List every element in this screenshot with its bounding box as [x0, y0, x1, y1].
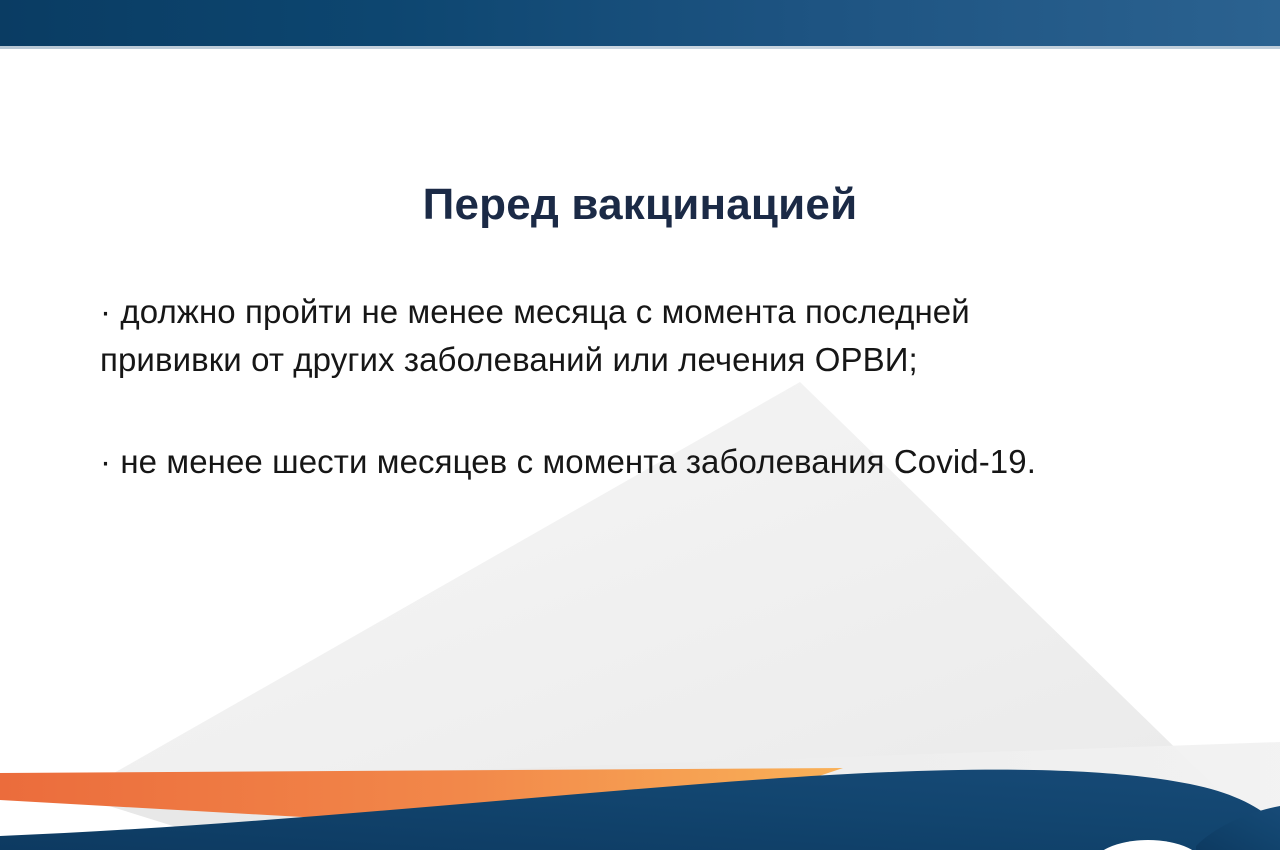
presentation-slide: Перед вакцинацией · должно пройти не мен…: [0, 0, 1280, 850]
bullet-item-2: · не менее шести месяцев с момента забол…: [100, 438, 1110, 486]
page-title: Перед вакцинацией: [0, 181, 1280, 229]
bullet-list: · должно пройти не менее месяца с момент…: [100, 288, 1110, 487]
bullet-item-1: · должно пройти не менее месяца с момент…: [100, 288, 1110, 384]
slide-content: Перед вакцинацией · должно пройти не мен…: [0, 0, 1280, 850]
